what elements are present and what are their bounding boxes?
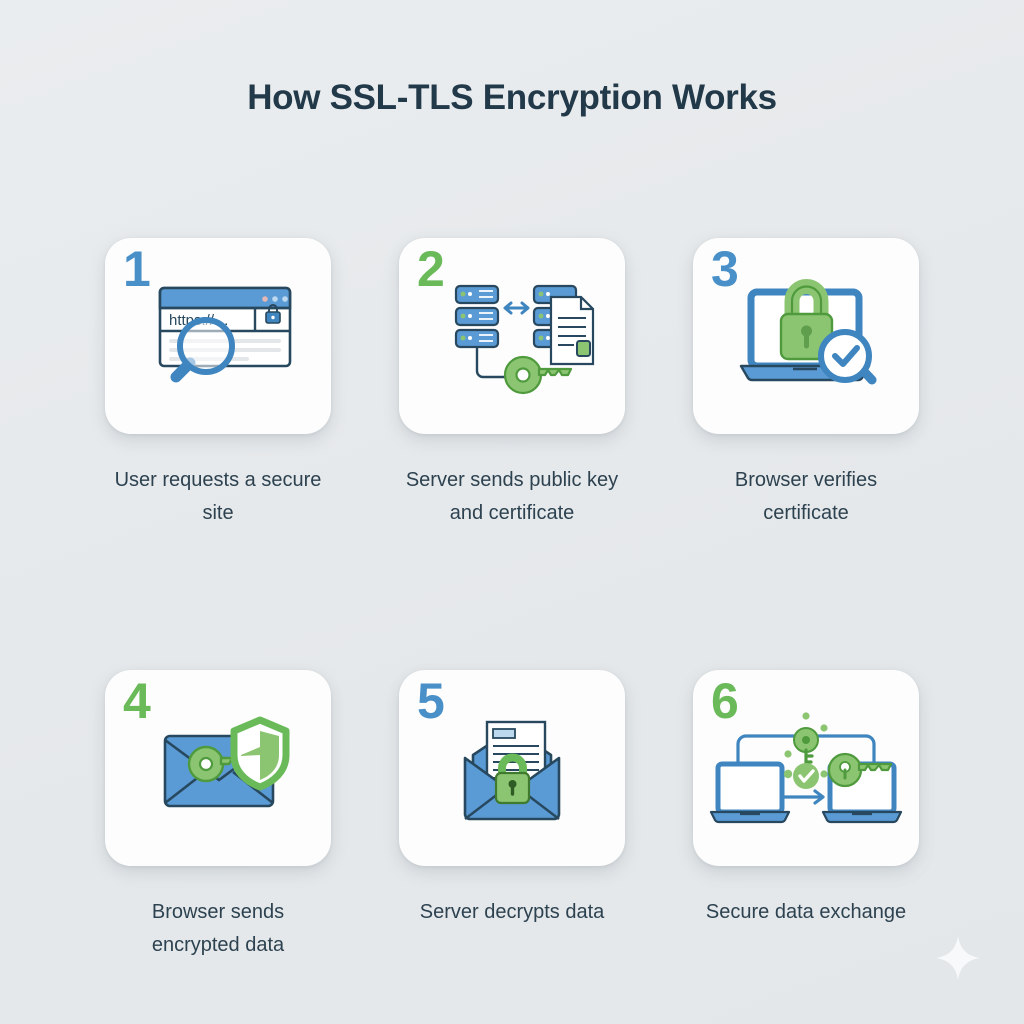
step-1-caption: User requests a secure site bbox=[111, 464, 326, 530]
browser-https-magnifier-icon: https://… bbox=[105, 238, 331, 434]
step-2-card[interactable]: 2 bbox=[399, 238, 625, 434]
step-6-caption: Secure data exchange bbox=[706, 896, 906, 929]
infographic-page: How SSL-TLS Encryption Works 1 bbox=[0, 0, 1024, 1024]
step-6-card[interactable]: 6 bbox=[693, 670, 919, 866]
two-laptops-key-exchange-icon bbox=[693, 670, 919, 866]
step-card-1: 1 https://… bbox=[105, 238, 331, 530]
envelope-key-shield-icon bbox=[105, 670, 331, 866]
open-envelope-document-padlock-icon bbox=[399, 670, 625, 866]
page-title: How SSL-TLS Encryption Works bbox=[0, 78, 1024, 118]
step-4-caption: Browser sends encrypted data bbox=[111, 896, 326, 962]
laptop-padlock-verified-icon bbox=[693, 238, 919, 434]
step-card-2: 2 bbox=[399, 238, 625, 530]
step-1-card[interactable]: 1 https://… bbox=[105, 238, 331, 434]
step-5-card[interactable]: 5 bbox=[399, 670, 625, 866]
four-point-star-sparkle-icon bbox=[934, 934, 982, 982]
servers-certificate-key-icon bbox=[399, 238, 625, 434]
step-3-card[interactable]: 3 bbox=[693, 238, 919, 434]
step-4-card[interactable]: 4 bbox=[105, 670, 331, 866]
steps-row-1: 1 https://… bbox=[0, 238, 1024, 530]
step-card-6: 6 bbox=[693, 670, 919, 962]
step-2-caption: Server sends public key and certificate bbox=[405, 464, 620, 530]
step-card-5: 5 bbox=[399, 670, 625, 962]
step-3-caption: Browser verifies certificate bbox=[699, 464, 914, 530]
step-card-3: 3 bbox=[693, 238, 919, 530]
steps-grid: 1 https://… bbox=[0, 238, 1024, 962]
steps-row-2: 4 bbox=[0, 670, 1024, 962]
step-card-4: 4 bbox=[105, 670, 331, 962]
step-5-caption: Server decrypts data bbox=[420, 896, 605, 929]
